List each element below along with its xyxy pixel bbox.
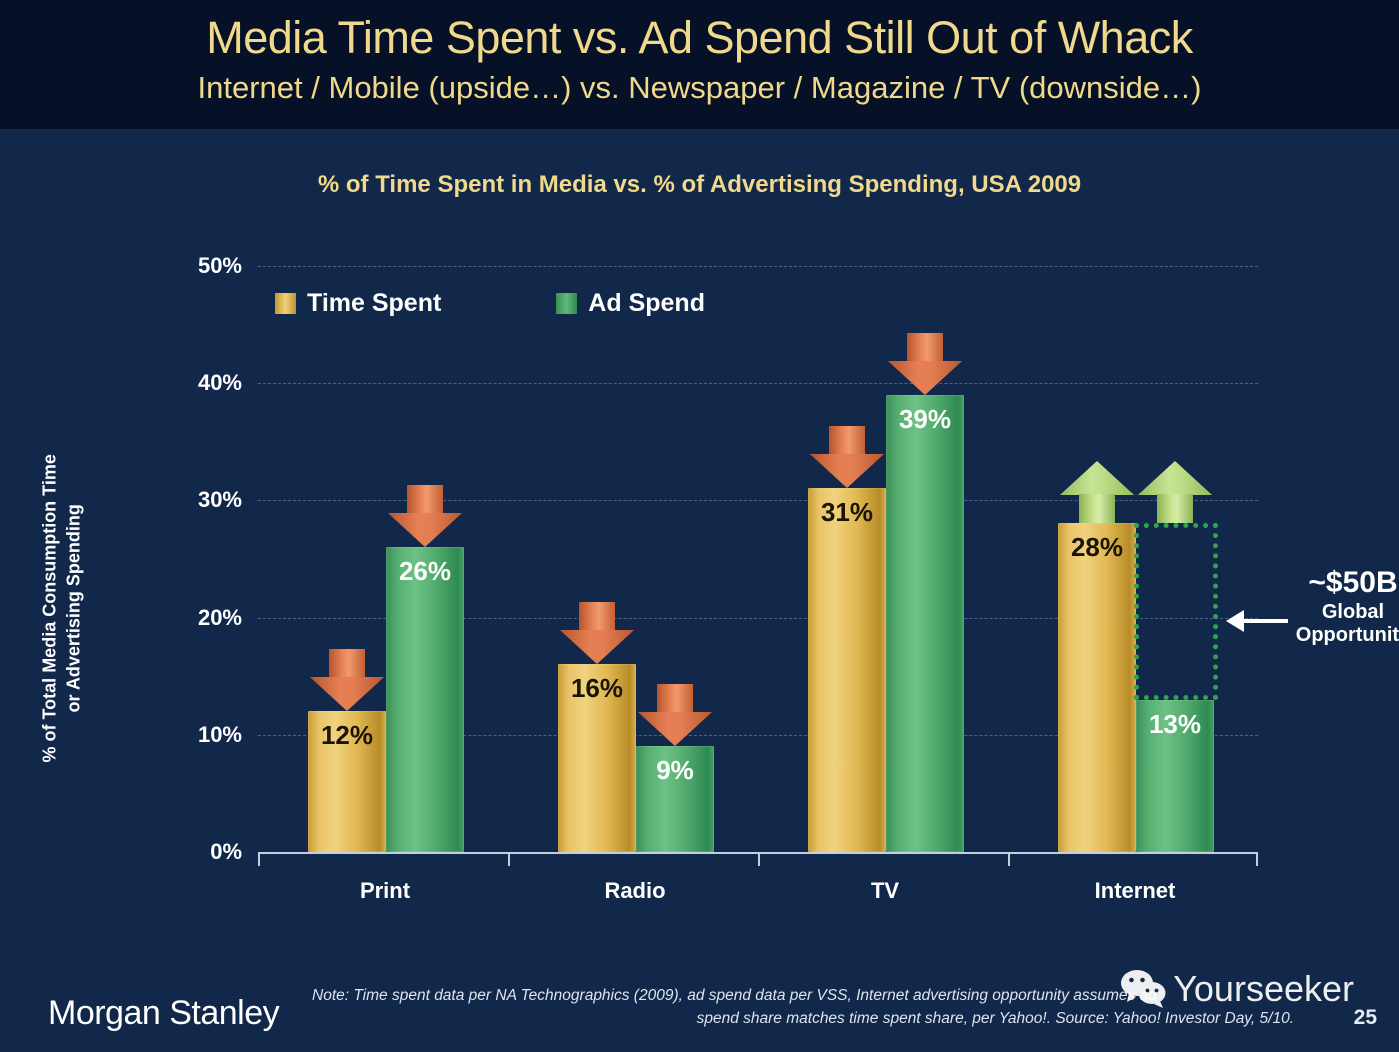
bar-value-radio-time-spent: 16%: [558, 673, 636, 704]
y-axis-title: % of Total Media Consumption Time or Adv…: [38, 373, 87, 843]
bar-value-internet-time-spent: 28%: [1058, 532, 1136, 563]
x-category-label-tv: TV: [871, 878, 899, 904]
opportunity-annotation: ~$50B Global Opportunity: [1258, 566, 1399, 647]
arrow-up-icon-internet-time-spent: [1060, 461, 1134, 523]
opportunity-box: [1134, 523, 1218, 700]
slide-header-band: Media Time Spent vs. Ad Spend Still Out …: [0, 0, 1399, 130]
slide-title: Media Time Spent vs. Ad Spend Still Out …: [0, 14, 1399, 61]
gridline-50: [258, 266, 1258, 267]
bar-print-time-spent[interactable]: 12%: [308, 711, 386, 852]
wechat-icon: [1119, 969, 1167, 1009]
y-tick-label-0: 0%: [112, 839, 242, 865]
bar-internet-ad-spend[interactable]: 13%: [1136, 700, 1214, 852]
chart-plot-area: 50% 40% 30% 20% 10% 0% 12% 26% 16% 9%: [258, 266, 1258, 852]
bar-tv-time-spent[interactable]: 31%: [808, 488, 886, 852]
brand-logo: Morgan Stanley: [48, 994, 279, 1033]
bar-internet-time-spent[interactable]: 28%: [1058, 523, 1136, 852]
x-tick-2: [758, 852, 760, 866]
x-tick-4: [1256, 852, 1258, 866]
bar-value-internet-ad-spend: 13%: [1136, 709, 1214, 740]
bar-value-radio-ad-spend: 9%: [636, 755, 714, 786]
arrow-down-icon-radio-time-spent: [560, 602, 634, 664]
slide-body: % of Time Spent in Media vs. % of Advert…: [0, 129, 1399, 1052]
opportunity-sub-line1: Global: [1258, 601, 1399, 624]
x-category-label-internet: Internet: [1095, 878, 1176, 904]
arrow-down-icon-tv-ad-spend: [888, 333, 962, 395]
y-tick-label-40: 40%: [112, 370, 242, 396]
x-tick-3: [1008, 852, 1010, 866]
bar-value-print-time-spent: 12%: [308, 720, 386, 751]
x-category-label-print: Print: [360, 878, 410, 904]
watermark: Yourseeker: [1119, 968, 1354, 1010]
arrow-down-icon-radio-ad-spend: [638, 684, 712, 746]
arrow-down-icon-print-ad-spend: [388, 485, 462, 547]
y-axis-title-line1: % of Total Media Consumption Time: [40, 454, 60, 762]
footnote-line-2: spend share matches time spent share, pe…: [312, 1007, 1342, 1030]
watermark-text: Yourseeker: [1173, 968, 1354, 1010]
bar-value-tv-time-spent: 31%: [808, 497, 886, 528]
chart-title: % of Time Spent in Media vs. % of Advert…: [0, 171, 1399, 199]
opportunity-sub-line2: Opportunity: [1258, 624, 1399, 647]
arrow-down-icon-tv-time-spent: [810, 426, 884, 488]
x-tick-0: [258, 852, 260, 866]
arrow-up-icon-internet-ad-spend: [1138, 461, 1212, 523]
y-axis-title-line2: or Advertising Spending: [64, 504, 84, 712]
slide-subtitle: Internet / Mobile (upside…) vs. Newspape…: [0, 72, 1399, 105]
page-number: 25: [1354, 1006, 1377, 1030]
bar-radio-time-spent[interactable]: 16%: [558, 664, 636, 852]
x-category-label-radio: Radio: [604, 878, 665, 904]
arrow-down-icon-print-time-spent: [310, 649, 384, 711]
bar-value-print-ad-spend: 26%: [386, 556, 464, 587]
bar-print-ad-spend[interactable]: 26%: [386, 547, 464, 852]
bar-tv-ad-spend[interactable]: 39%: [886, 395, 964, 852]
y-tick-label-10: 10%: [112, 722, 242, 748]
x-tick-1: [508, 852, 510, 866]
bar-radio-ad-spend[interactable]: 9%: [636, 746, 714, 852]
y-tick-label-20: 20%: [112, 605, 242, 631]
bar-value-tv-ad-spend: 39%: [886, 404, 964, 435]
gridline-40: [258, 383, 1258, 384]
y-tick-label-50: 50%: [112, 253, 242, 279]
opportunity-amount: ~$50B: [1258, 566, 1399, 601]
y-tick-label-30: 30%: [112, 487, 242, 513]
